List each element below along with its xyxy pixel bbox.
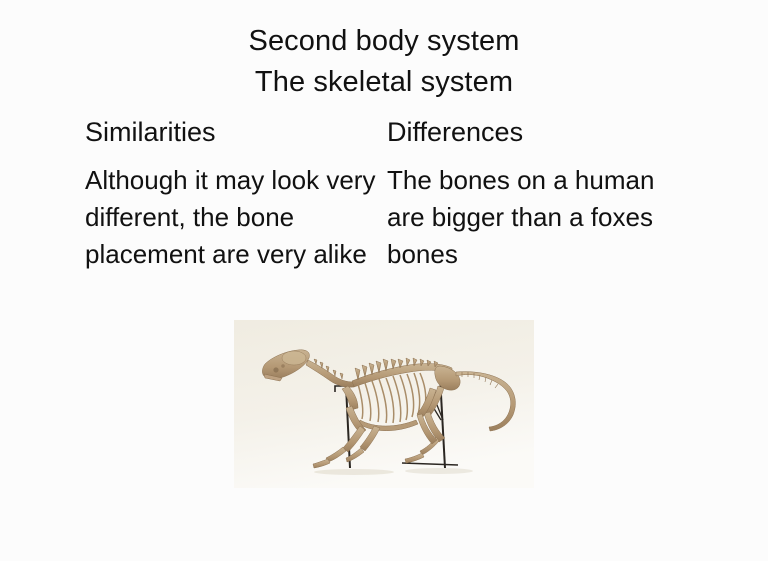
title-line-secondary: The skeletal system bbox=[0, 63, 768, 101]
slide-title: Second body system The skeletal system bbox=[0, 22, 768, 101]
slide-canvas: Second body system The skeletal system S… bbox=[0, 0, 768, 561]
column-body-similarities: Although it may look very different, the… bbox=[85, 162, 377, 273]
column-heading-similarities: Similarities bbox=[85, 116, 377, 148]
shadow-front bbox=[314, 469, 394, 475]
comparison-columns: Similarities Although it may look very d… bbox=[0, 116, 768, 316]
column-body-differences: The bones on a human are bigger than a f… bbox=[387, 162, 659, 273]
photo-background bbox=[234, 320, 534, 488]
column-heading-differences: Differences bbox=[387, 116, 687, 148]
fox-skeleton-illustration bbox=[234, 320, 534, 488]
fox-skeleton-photo bbox=[234, 320, 534, 488]
shadow-hind bbox=[405, 468, 473, 474]
column-differences: Differences The bones on a human are big… bbox=[387, 116, 687, 273]
title-line-primary: Second body system bbox=[0, 22, 768, 60]
column-similarities: Similarities Although it may look very d… bbox=[85, 116, 377, 273]
